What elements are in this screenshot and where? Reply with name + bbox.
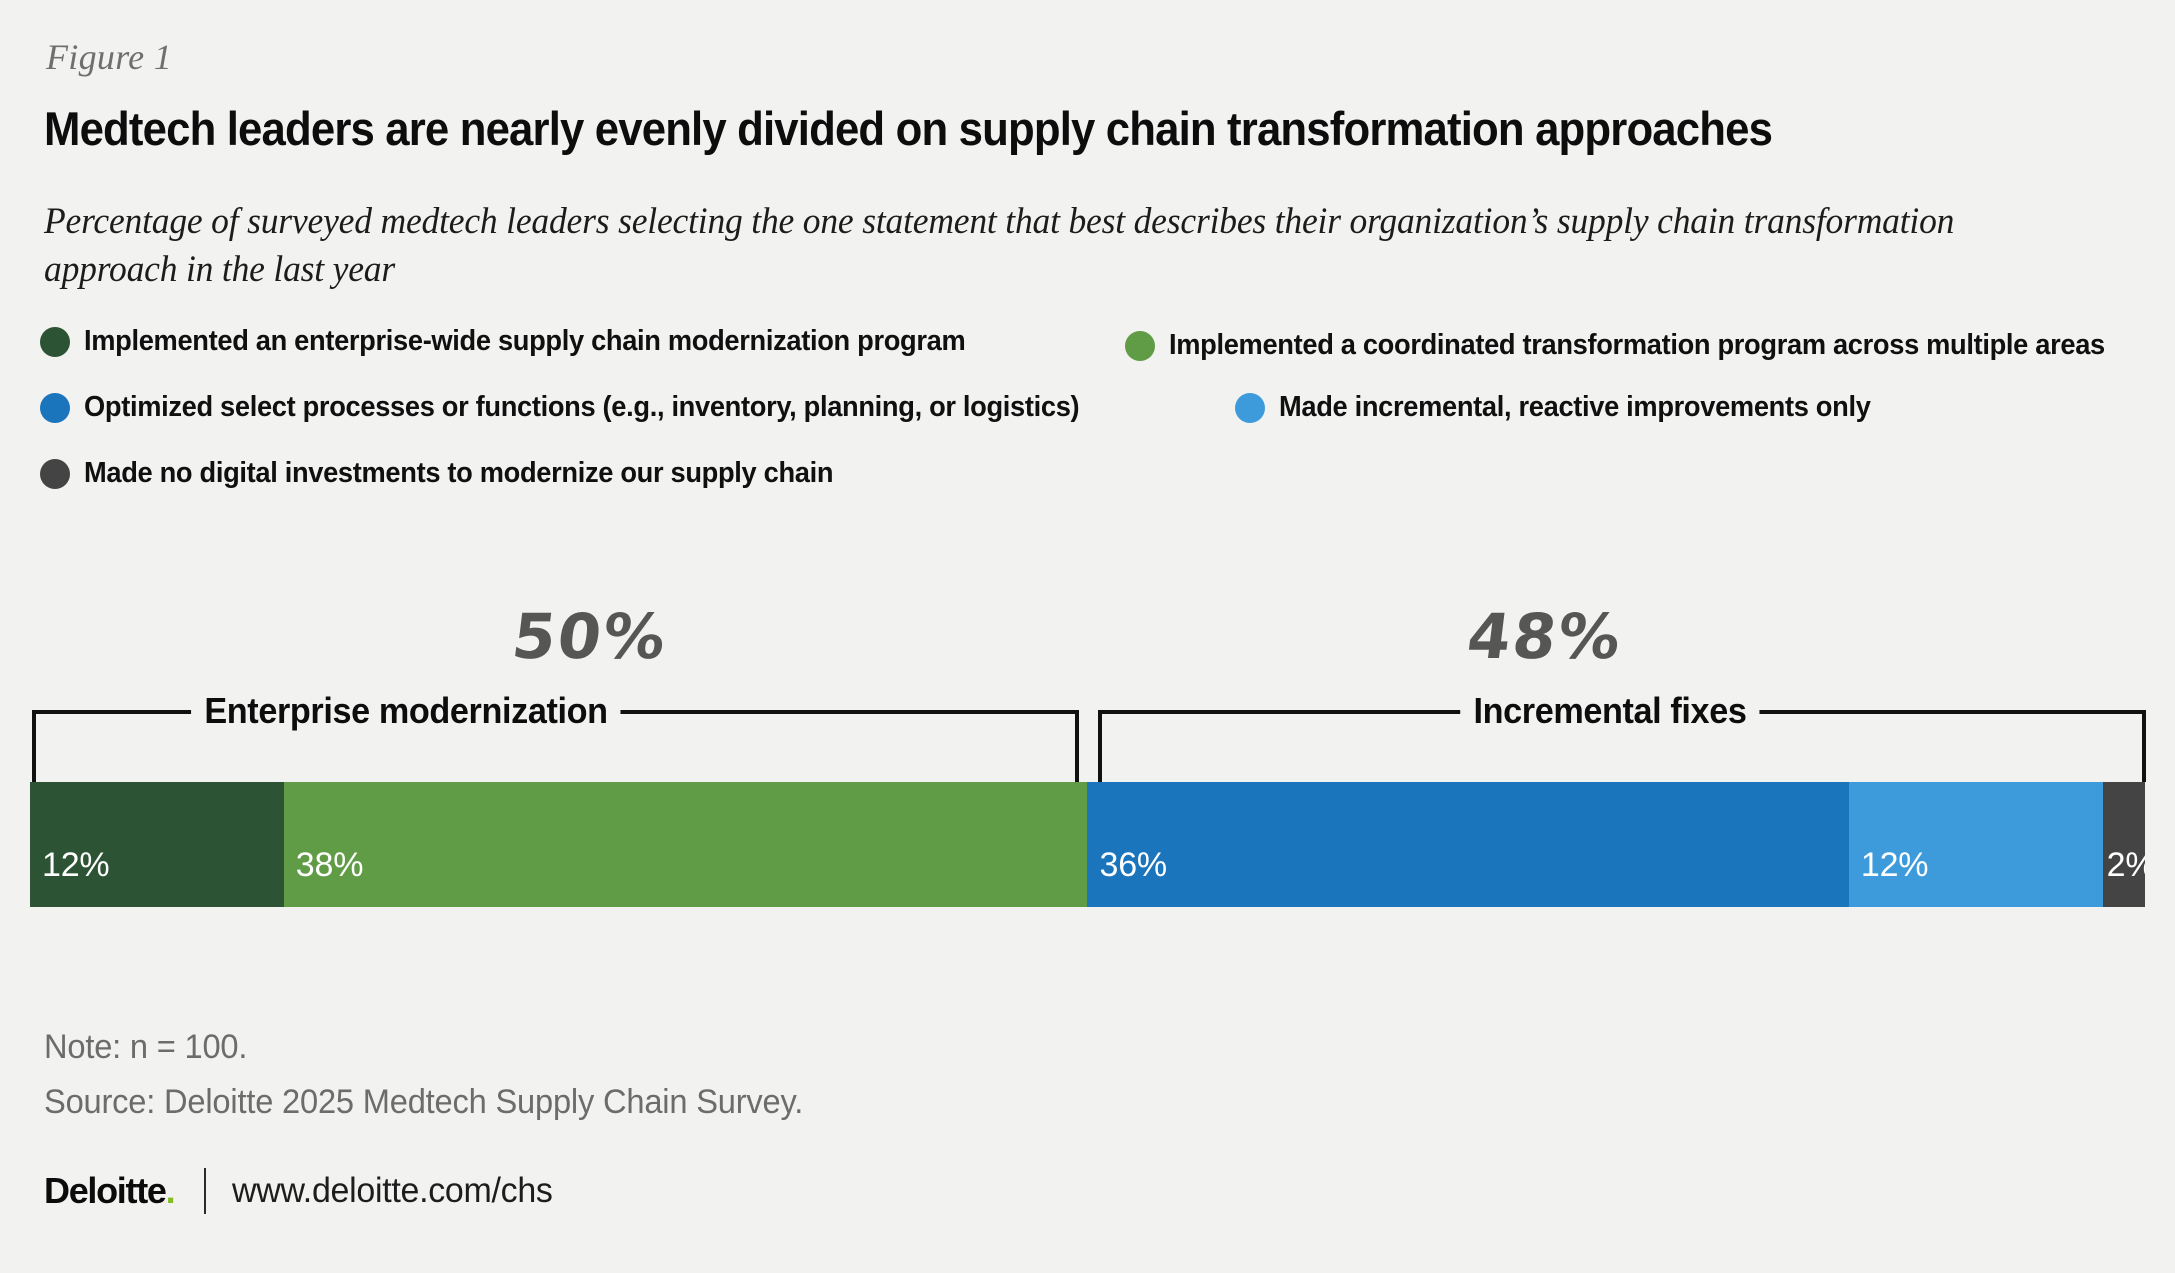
legend-item-label: Implemented a coordinated transformation… — [1169, 329, 2105, 362]
bar-segment-incremental[interactable]: 12% — [1849, 782, 2103, 907]
group-total-incremental-fixes: 48% — [1381, 600, 1710, 673]
legend-row-1: Implemented an enterprise-wide supply ch… — [40, 325, 2150, 391]
bracket-label-incremental-fixes: Incremental fixes — [1460, 690, 1760, 732]
legend-item-coordinated[interactable]: Implemented a coordinated transformation… — [1125, 329, 2165, 362]
deloitte-logo-dot-icon: . — [166, 1170, 176, 1212]
bracket-label-enterprise-modernization: Enterprise modernization — [191, 690, 621, 732]
legend-item-optimized-select[interactable]: Optimized select processes or functions … — [40, 391, 1143, 424]
bar-segment-optimized-select[interactable]: 36% — [1087, 782, 1848, 907]
legend-item-label: Implemented an enterprise-wide supply ch… — [84, 325, 965, 358]
legend-swatch-dot-icon — [40, 459, 70, 489]
bar-segment-enterprise-wide[interactable]: 12% — [30, 782, 284, 907]
bar-segment-value-label: 12% — [1849, 846, 1928, 907]
legend-swatch-dot-icon — [1235, 393, 1265, 423]
figure-title: Medtech leaders are nearly evenly divide… — [44, 104, 1960, 155]
legend-item-enterprise-wide[interactable]: Implemented an enterprise-wide supply ch… — [40, 325, 1022, 358]
deloitte-logo-text: Deloitte — [44, 1170, 166, 1212]
legend-row-3: Made no digital investments to modernize… — [40, 457, 2150, 523]
note-text: Note: n = 100. — [44, 1020, 803, 1075]
legend-swatch-dot-icon — [1125, 331, 1155, 361]
bar-segment-value-label: 38% — [284, 846, 363, 907]
bar-segment-value-label: 36% — [1087, 846, 1166, 907]
figure-number-label: Figure 1 — [46, 36, 172, 78]
legend-row-2: Optimized select processes or functions … — [40, 391, 2150, 457]
source-text: Source: Deloitte 2025 Medtech Supply Cha… — [44, 1075, 803, 1130]
group-total-enterprise-modernization: 50% — [426, 600, 755, 673]
bar-segment-no-investment[interactable]: 2% — [2103, 782, 2145, 907]
chart-legend: Implemented an enterprise-wide supply ch… — [40, 325, 2150, 523]
legend-item-incremental[interactable]: Made incremental, reactive improvements … — [1235, 391, 1908, 424]
chart-footnotes: Note: n = 100. Source: Deloitte 2025 Med… — [44, 1020, 835, 1130]
legend-swatch-dot-icon — [40, 393, 70, 423]
bar-segment-value-label: 12% — [30, 846, 109, 907]
brand-url-link[interactable]: www.deloitte.com/chs — [232, 1171, 553, 1211]
bar-segment-value-label: 2% — [2103, 846, 2145, 907]
legend-item-label: Optimized select processes or functions … — [84, 391, 1079, 424]
brand-divider — [204, 1168, 206, 1214]
stacked-bar-chart: 12% 38% 36% 12% 2% — [30, 782, 2145, 907]
legend-item-label: Made incremental, reactive improvements … — [1279, 391, 1871, 424]
legend-item-label: Made no digital investments to modernize… — [84, 457, 833, 490]
figure-container: Figure 1 Medtech leaders are nearly even… — [0, 0, 2175, 1273]
legend-swatch-dot-icon — [40, 327, 70, 357]
figure-subtitle: Percentage of surveyed medtech leaders s… — [44, 198, 2022, 294]
legend-item-no-investment[interactable]: Made no digital investments to modernize… — [40, 457, 881, 490]
brand-footer: Deloitte . www.deloitte.com/chs — [44, 1166, 562, 1216]
bar-segment-coordinated[interactable]: 38% — [284, 782, 1088, 907]
